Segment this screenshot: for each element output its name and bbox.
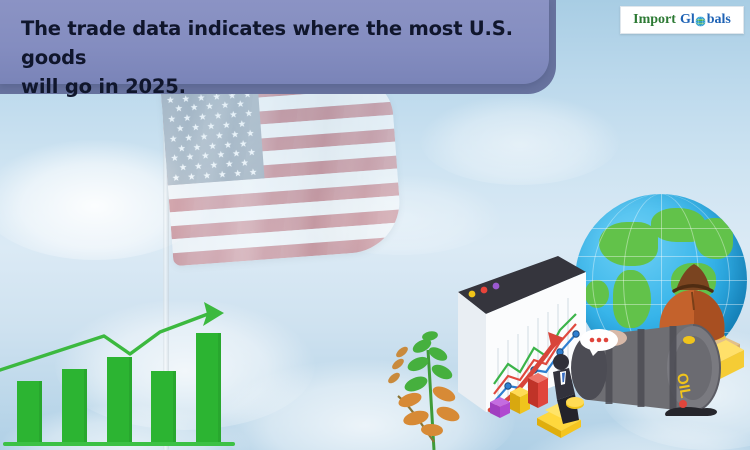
logo-word-gl: Gl: [680, 12, 695, 28]
united-states-flag: ★★★★★★★★★★★★★★★★★★★★★★★★★★★★★★★★★★★★★★★★…: [95, 78, 395, 318]
chart-bar: [62, 369, 87, 442]
logo-word-import: Import: [633, 12, 676, 28]
globe-icon: [695, 16, 706, 27]
headline-text: The trade data indicates where the most …: [21, 14, 541, 101]
headline-banner: The trade data indicates where the most …: [0, 0, 549, 84]
chart-bar: [151, 371, 176, 442]
logo-word-bals: bals: [707, 12, 731, 28]
headline-line-2: will go in 2025.: [21, 72, 541, 101]
chart-bar: [107, 357, 132, 442]
headline-line-1: The trade data indicates where the most …: [21, 14, 541, 72]
chart-bar: [196, 333, 221, 442]
logo[interactable]: Import Gl bals: [620, 6, 744, 34]
chart-bar: [17, 381, 42, 442]
flag-cloth: ★★★★★★★★★★★★★★★★★★★★★★★★★★★★★★★★★★★★★★★★…: [161, 75, 403, 266]
banner-image: ★★★★★★★★★★★★★★★★★★★★★★★★★★★★★★★★★★★★★★★★…: [0, 0, 750, 450]
growth-bar-chart: [0, 296, 238, 450]
flag-wave-shading: [161, 75, 403, 266]
chart-baseline: [3, 442, 235, 446]
global-trade-illustration: OIL: [440, 190, 750, 450]
oil-barrel: OIL: [565, 318, 730, 416]
cloud: [420, 95, 620, 185]
